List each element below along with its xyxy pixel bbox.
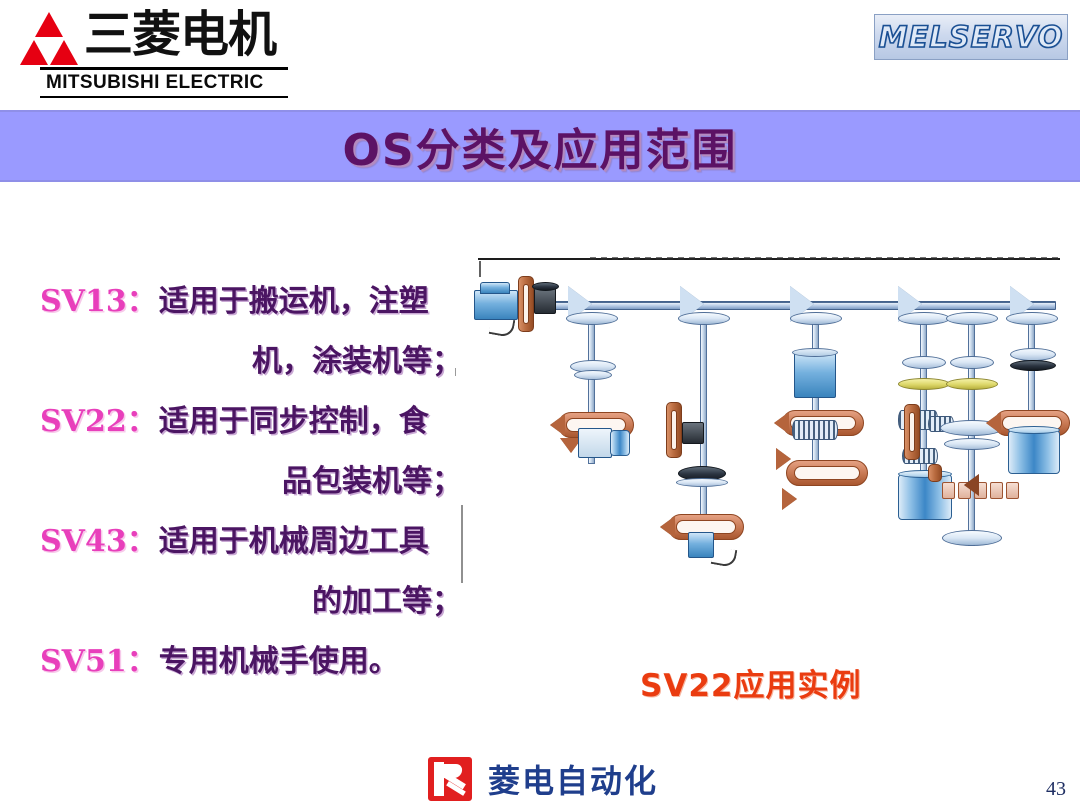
tool-chain-arrowhead <box>964 474 979 496</box>
diagram-caption: SV22应用实例 <box>640 660 861 705</box>
spec-item-sv43-line1: SV43：适用于机械周边工具 <box>40 512 468 572</box>
clutch-disc <box>898 312 950 325</box>
spec-item-sv22-line1: SV22：适用于同步控制，食 <box>40 392 468 452</box>
diagram-top-rule-dashes <box>590 257 1060 260</box>
spec-item-sv22-line2: 品包装机等； <box>40 452 468 512</box>
drop-shaft <box>700 314 707 524</box>
rotation-arrowhead <box>660 516 675 538</box>
spec-code-sv43: SV43： <box>40 524 157 559</box>
roller-cylinder <box>1008 430 1060 474</box>
clutch-disc <box>676 478 728 487</box>
tool-chain-link <box>942 482 955 499</box>
tool-chain <box>942 482 1019 499</box>
melservo-logo-text: MELSERVO <box>879 20 1064 54</box>
servo-cap <box>792 348 838 357</box>
spec-desc-sv22-line2: 品包装机等； <box>282 464 462 499</box>
clutch-disc <box>678 312 730 325</box>
spec-desc-sv51-line1: 专用机械手使用。 <box>159 644 399 679</box>
roller-cylinder-cap <box>898 470 952 478</box>
drive-belt-inner <box>523 284 529 324</box>
drive-motor-body <box>474 290 518 320</box>
drive-coupling <box>534 288 556 314</box>
station-servo <box>688 532 714 558</box>
title-banner: OS分类及应用范围 <box>0 110 1080 182</box>
spec-desc-sv43-line2: 的加工等； <box>312 584 462 619</box>
mitsubishi-logo: 三菱电机 MITSUBISHI ELECTRIC <box>18 6 288 104</box>
rotation-arrowhead <box>986 412 1001 434</box>
clutch-disc <box>1006 312 1058 325</box>
footer-brand-text: 菱电自动化 <box>488 756 658 802</box>
brand-kanji: 三菱电机 <box>84 6 276 64</box>
base-plate <box>942 530 1002 546</box>
rotation-arrowhead <box>550 414 565 436</box>
spec-code-sv13: SV13： <box>40 284 157 319</box>
station-cable <box>711 546 738 568</box>
scan-artifact-line <box>461 505 463 583</box>
rotation-arrowhead <box>774 412 789 434</box>
tool-head-plate <box>944 438 1000 450</box>
diagram-corner-tick <box>479 261 481 277</box>
rotation-arrow <box>786 460 868 486</box>
belt-drive <box>666 402 682 458</box>
melservo-logo: MELSERVO <box>874 14 1068 60</box>
brake-disc <box>1010 360 1056 371</box>
page-number: 43 <box>1046 778 1066 801</box>
spec-item-sv13-line1: SV13：适用于搬运机，注塑 <box>40 272 468 332</box>
spec-code-sv51: SV51： <box>40 644 157 679</box>
gear-stack <box>792 420 838 440</box>
spec-item-sv43-line2: 的加工等； <box>40 572 468 632</box>
clutch-disc <box>946 312 998 325</box>
belt-drive <box>928 464 942 482</box>
drive-motor-top <box>480 282 510 294</box>
spec-desc-sv13-line2: 机，涂装机等； <box>252 344 462 379</box>
belt-drive-inner <box>909 412 915 452</box>
logo-rule-top <box>40 67 288 70</box>
mitsubishi-three-diamonds-icon <box>18 10 80 66</box>
roller-cylinder <box>610 430 630 456</box>
clutch-disc <box>902 356 946 369</box>
belt-drive <box>904 404 920 460</box>
rotation-arrow-inner <box>794 466 860 480</box>
spec-item-sv13-line2: 机，涂装机等； <box>40 332 468 392</box>
rotation-arrowhead-right <box>776 448 791 470</box>
belt-drive-inner <box>671 410 677 450</box>
yellow-disc <box>946 378 998 390</box>
brand-english: MITSUBISHI ELECTRIC <box>46 72 264 94</box>
spec-item-sv51-line1: SV51：专用机械手使用。 <box>40 632 468 692</box>
scan-artifact-dot <box>455 368 456 376</box>
rotation-arrowhead-right <box>782 488 797 510</box>
slide-footer: 菱电自动化 <box>0 752 1080 810</box>
spec-desc-sv13-line1: 适用于搬运机，注塑 <box>159 284 429 319</box>
yellow-disc <box>898 378 950 390</box>
page-title: OS分类及应用范围 <box>342 114 737 178</box>
station-gearbox <box>578 428 612 458</box>
clutch-disc <box>790 312 842 325</box>
logo-rule-bottom <box>40 96 288 98</box>
station-servo-motor <box>794 352 836 398</box>
tool-chain-link <box>1006 482 1019 499</box>
drive-motor-cable <box>489 316 516 338</box>
spec-desc-sv22-line1: 适用于同步控制，食 <box>159 404 429 439</box>
spec-code-sv22: SV22： <box>40 404 157 439</box>
clutch-disc <box>574 370 612 380</box>
lingdian-automation-logo-icon <box>428 757 472 801</box>
drive-flywheel <box>532 282 559 291</box>
roller-cylinder-cap <box>1008 426 1060 434</box>
clutch-disc <box>950 356 994 369</box>
footer-brand: 菱电自动化 <box>428 756 658 802</box>
spec-desc-sv43-line1: 适用于机械周边工具 <box>159 524 429 559</box>
belt-pulley <box>682 422 704 444</box>
line-shaft-machine-illustration <box>470 252 1064 642</box>
tool-chain-link <box>990 482 1003 499</box>
spec-list: SV13：适用于搬运机，注塑 机，涂装机等； SV22：适用于同步控制，食 品包… <box>40 272 468 692</box>
slide-header: 三菱电机 MITSUBISHI ELECTRIC MELSERVO <box>0 0 1080 110</box>
clutch-disc <box>566 312 618 325</box>
